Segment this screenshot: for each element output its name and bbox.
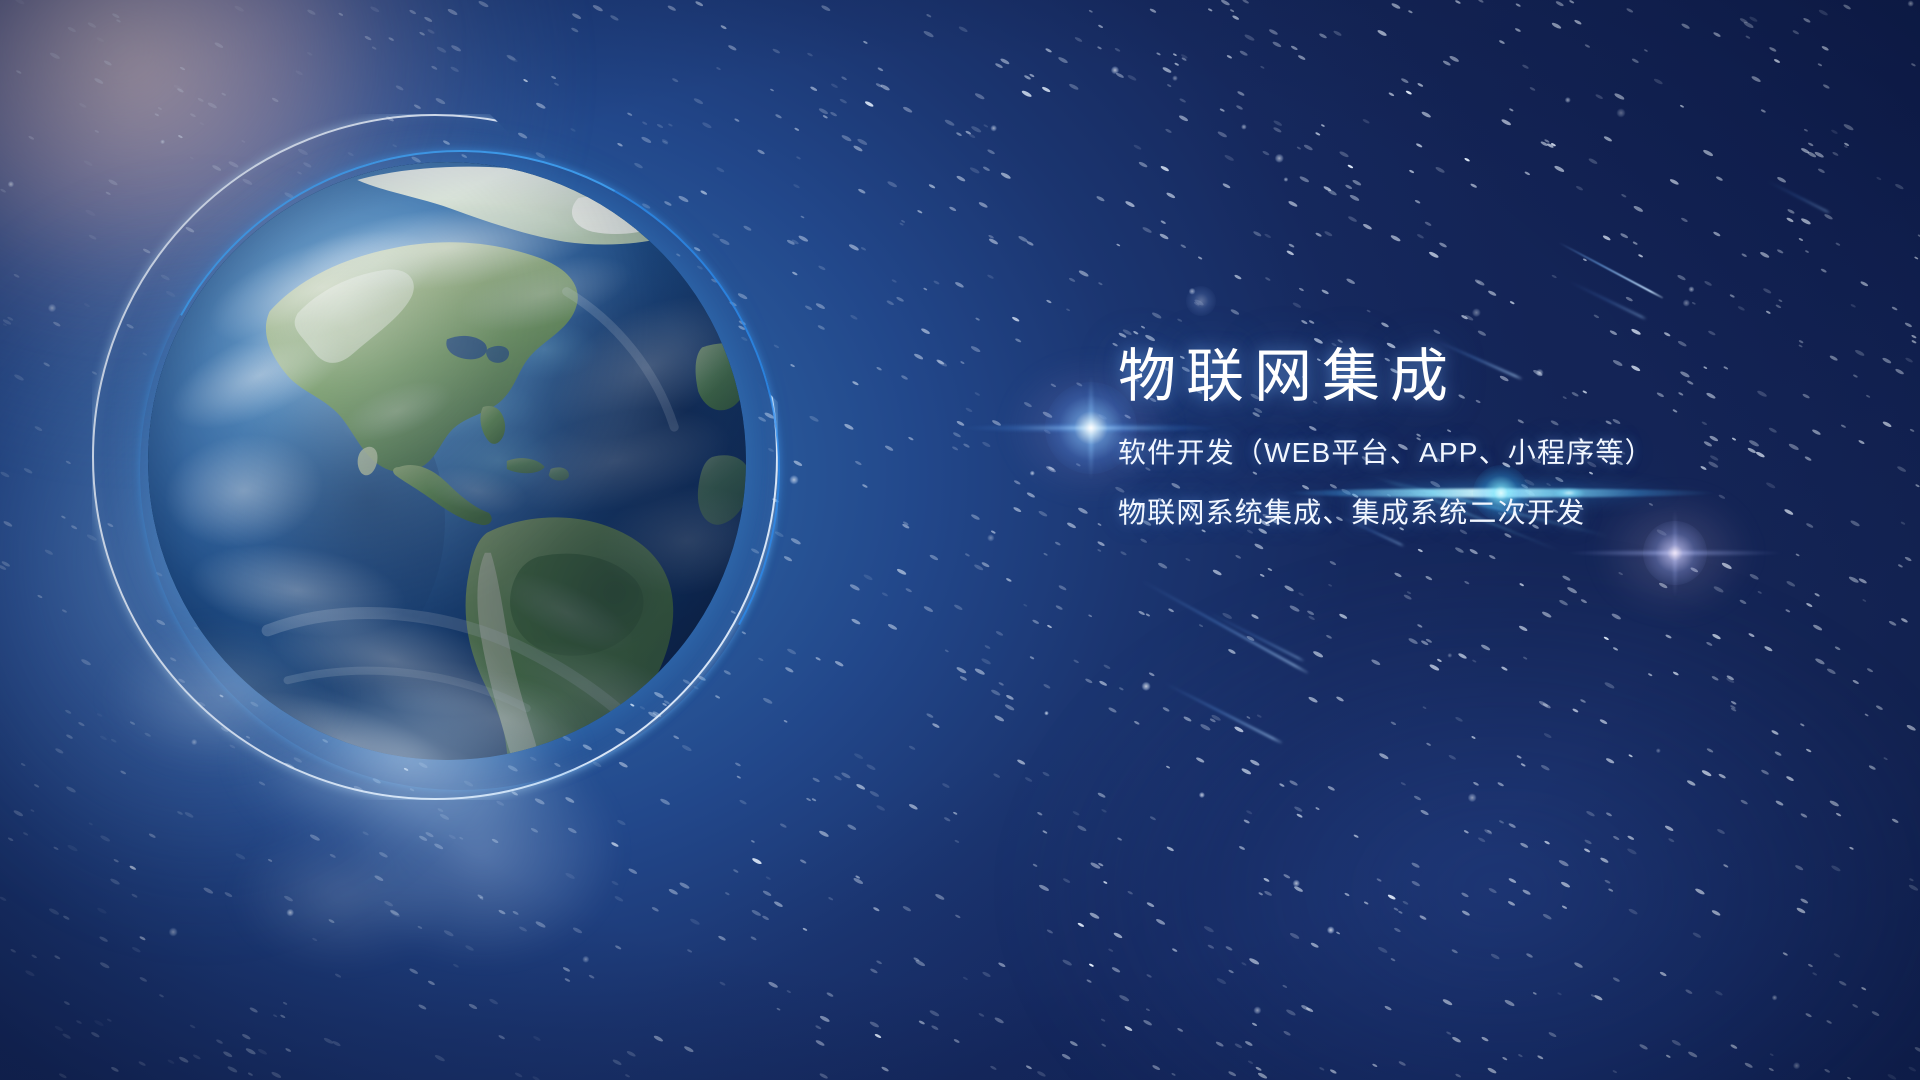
hero-text-block: 物联网集成 软件开发（WEB平台、APP、小程序等） 物联网系统集成、集成系统二…: [1118, 346, 1858, 527]
subtitle-list: 软件开发（WEB平台、APP、小程序等） 物联网系统集成、集成系统二次开发: [1118, 439, 1858, 527]
page-title: 物联网集成: [1118, 346, 1858, 407]
globe-mist-secondary: [40, 600, 380, 840]
subtitle-line-1: 软件开发（WEB平台、APP、小程序等）: [1118, 439, 1858, 467]
hero-banner: 物联网集成 软件开发（WEB平台、APP、小程序等） 物联网系统集成、集成系统二…: [0, 0, 1920, 1080]
subtitle-line-2: 物联网系统集成、集成系统二次开发: [1118, 499, 1858, 527]
